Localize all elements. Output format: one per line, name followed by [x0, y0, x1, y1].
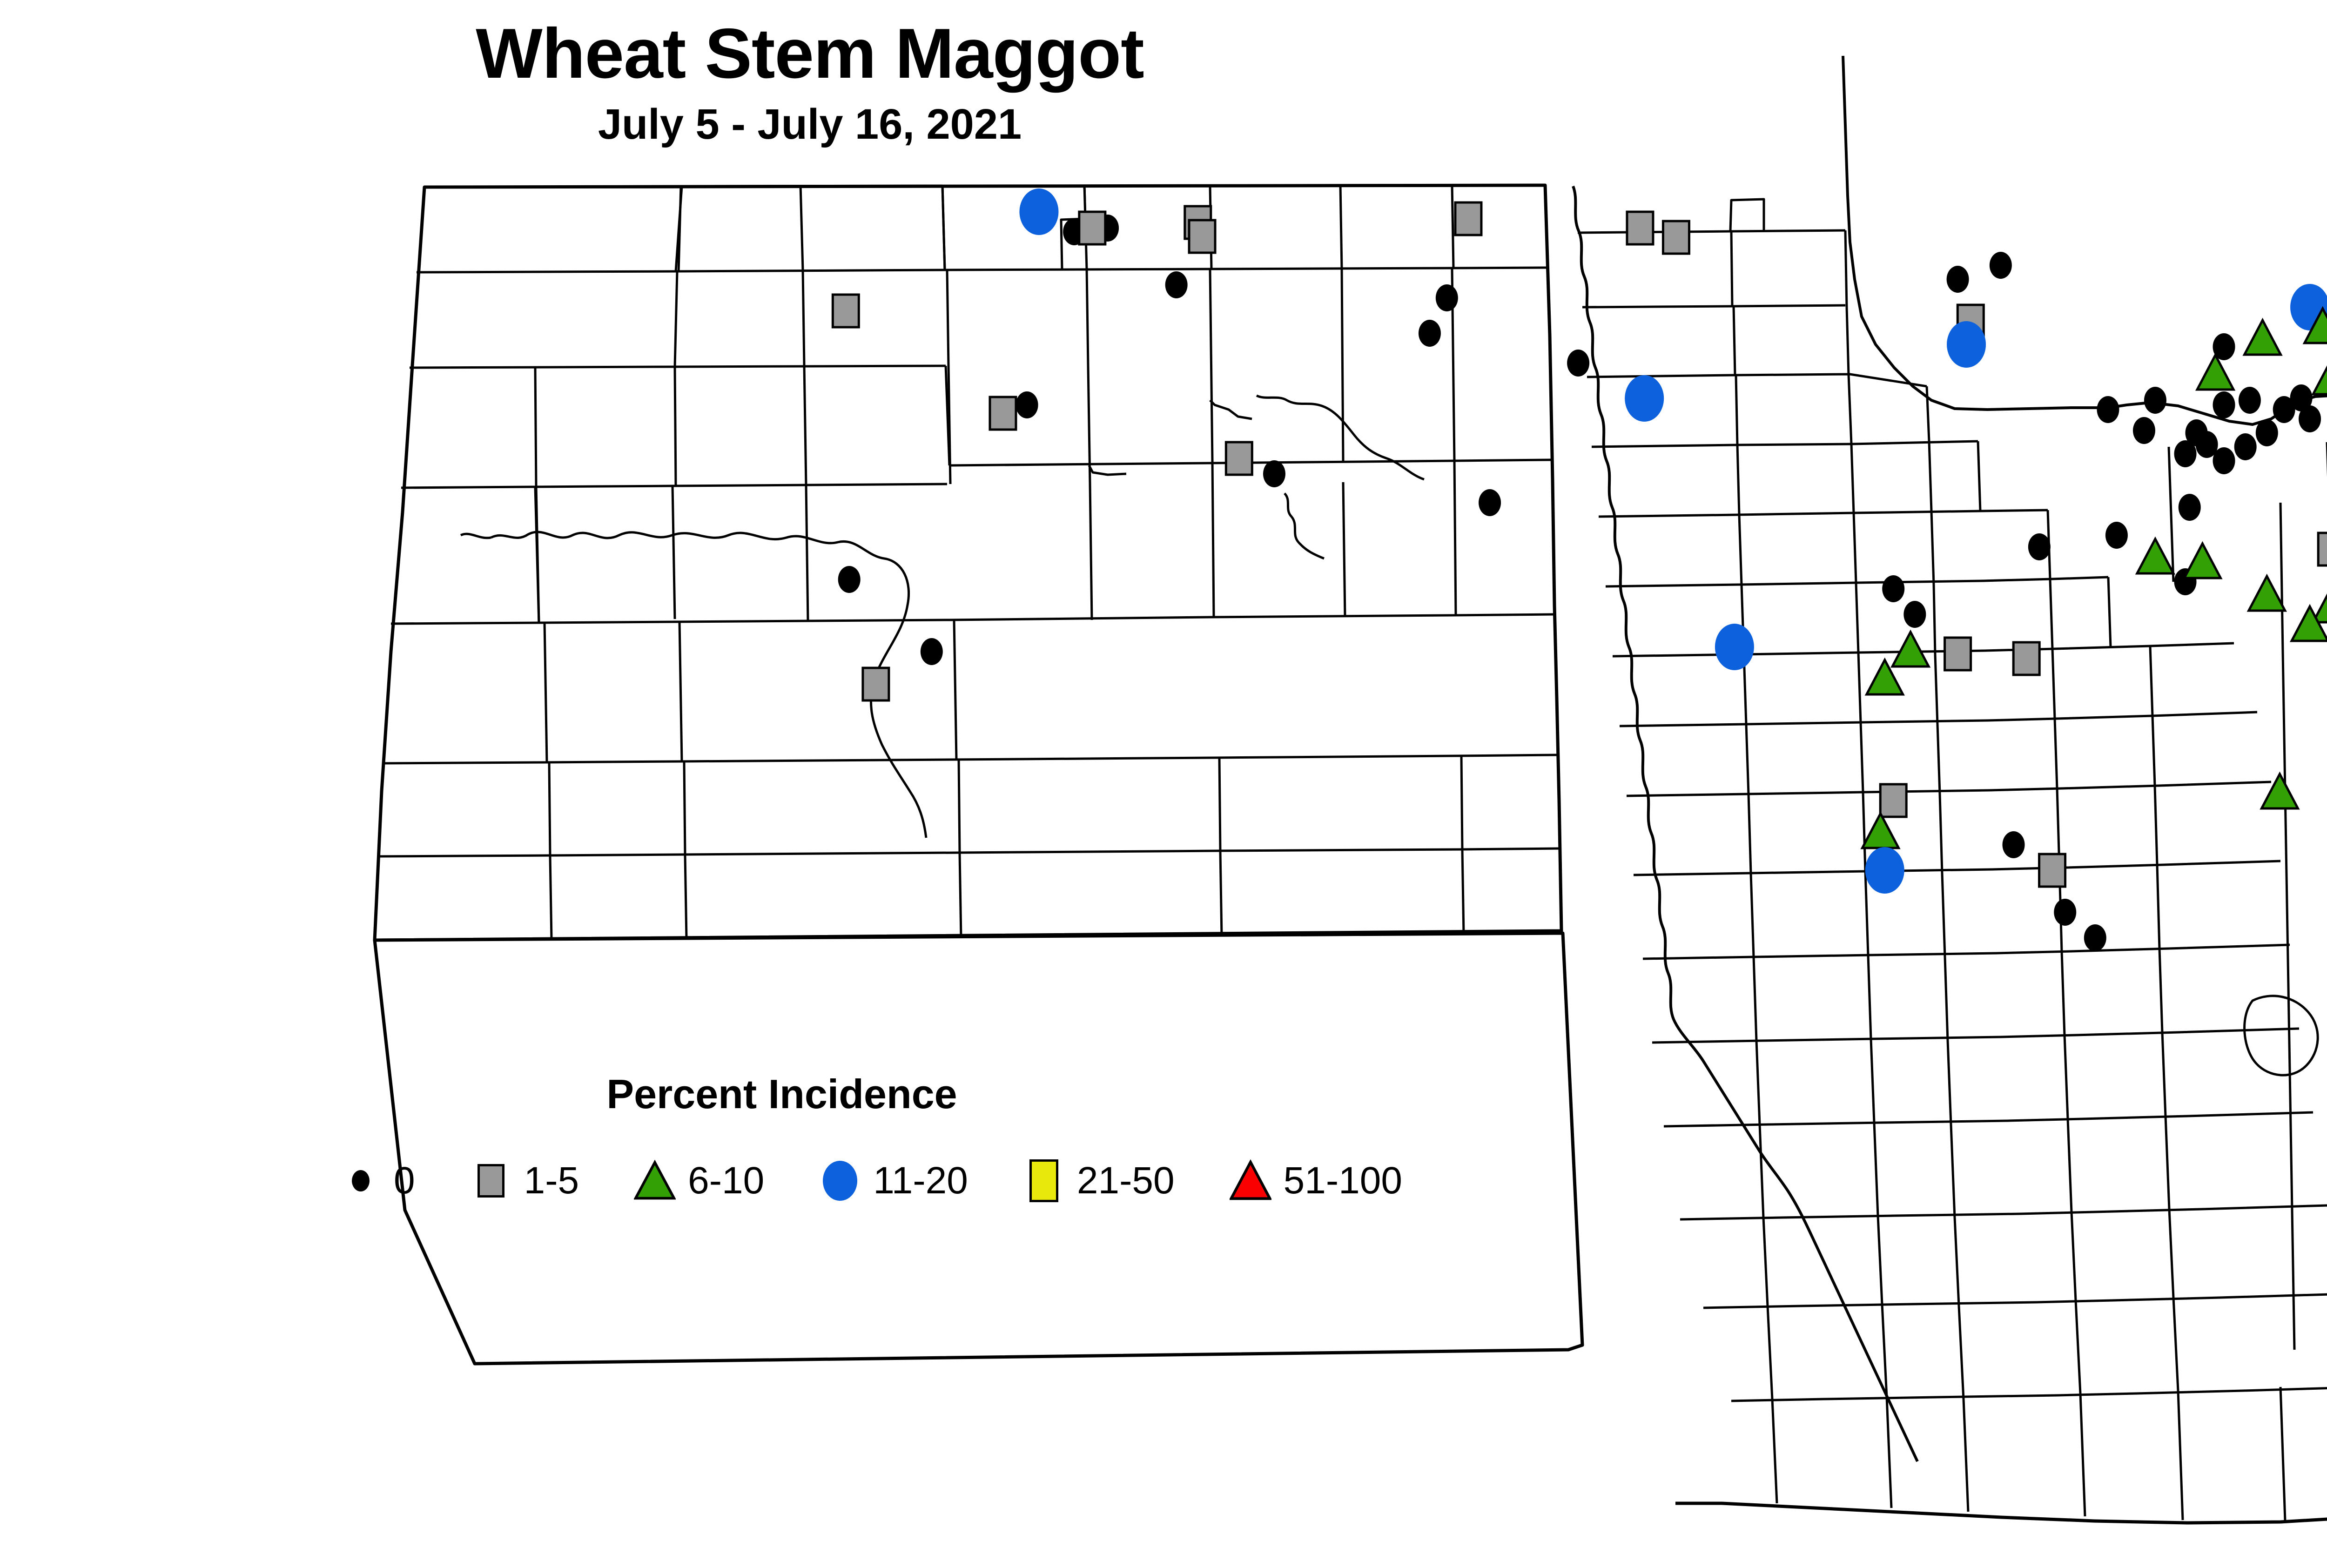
map-marker-1-5: [990, 397, 1016, 430]
map-marker-0: [2256, 419, 2278, 446]
map-marker-0: [2234, 433, 2257, 460]
legend-label-1-5: 1-5: [524, 1159, 579, 1203]
map-marker-1-5: [1189, 220, 1215, 253]
map-marker-0: [2054, 899, 2076, 926]
map-marker-0: [2097, 396, 2119, 423]
map-marker-0: [1436, 284, 1458, 311]
map-marker-1-5: [1079, 212, 1105, 244]
square-yellow-icon: [1023, 1160, 1065, 1202]
legend-label-6-10: 6-10: [688, 1159, 764, 1203]
legend-label-51-100: 51-100: [1284, 1159, 1402, 1203]
map-marker-11-20: [1019, 188, 1058, 235]
legend-item-11-20[interactable]: 11-20: [819, 1159, 968, 1203]
map-marker-1-5: [1455, 202, 1481, 235]
map-marker-1-5: [2039, 854, 2065, 887]
map-marker-0: [1016, 391, 1038, 418]
map-marker-1-5: [2013, 642, 2039, 675]
map-marker-1-5: [1945, 638, 1971, 670]
legend-title: Percent Incidence: [247, 1070, 1317, 1118]
legend-item-0[interactable]: 0: [340, 1159, 415, 1203]
map-marker-0: [2213, 447, 2235, 474]
legend-label-21-50: 21-50: [1077, 1159, 1175, 1203]
map-marker-0: [2028, 533, 2051, 560]
map-marker-1-5: [1627, 212, 1653, 244]
map-marker-0: [1567, 350, 1589, 377]
map-marker-0: [2213, 391, 2235, 418]
map-marker-11-20: [1947, 321, 1986, 368]
map-marker-6-10: [2197, 355, 2233, 390]
map-marker-0: [838, 566, 861, 593]
map-marker-0: [1903, 601, 1926, 628]
map-marker-0: [2273, 396, 2295, 423]
map-marker-0: [2105, 522, 2128, 549]
triangle-red-icon: [1230, 1160, 1271, 1202]
map-marker-0: [2003, 831, 2025, 858]
legend-label-0: 0: [394, 1159, 415, 1203]
legend-item-1-5[interactable]: 1-5: [470, 1159, 579, 1203]
legend-item-21-50[interactable]: 21-50: [1023, 1159, 1175, 1203]
map-marker-0: [1263, 460, 1285, 487]
map-marker-0: [2299, 405, 2321, 432]
map-page: Wheat Stem Maggot July 5 - July 16, 2021: [0, 0, 2327, 1568]
map-marker-1-5: [833, 295, 859, 327]
map-marker-11-20: [1625, 375, 1664, 422]
map-marker-6-10: [2245, 320, 2281, 355]
map-marker-0: [2179, 494, 2201, 521]
square-gray-icon: [470, 1160, 512, 1202]
map-marker-0: [1419, 320, 1441, 347]
map-marker-0: [1479, 489, 1501, 516]
map-marker-6-10: [2313, 360, 2327, 394]
map-marker-0: [2144, 387, 2166, 414]
legend: Percent Incidence 0 1-5: [247, 1070, 1689, 1203]
map-marker-1-5: [1663, 221, 1689, 254]
map-marker-0: [1882, 575, 1904, 602]
map-marker-0: [1165, 271, 1188, 298]
north-dakota-counties: [375, 184, 1561, 940]
incidence-map: [0, 0, 2327, 1568]
circle-blue-icon: [819, 1160, 861, 1202]
triangle-green-icon: [634, 1160, 676, 1202]
map-marker-0: [2084, 924, 2106, 951]
map-marker-0: [1947, 266, 1969, 293]
map-marker-1-5: [2318, 533, 2327, 565]
map-marker-0: [1990, 252, 2012, 279]
map-marker-0: [2133, 417, 2155, 444]
legend-label-11-20: 11-20: [873, 1159, 968, 1203]
map-marker-0: [2239, 387, 2261, 414]
map-marker-0: [2174, 440, 2197, 467]
map-marker-1-5: [863, 668, 889, 700]
map-marker-0: [921, 638, 943, 665]
circle-black-icon: [340, 1160, 382, 1202]
legend-items: 0 1-5 6-10 11-20: [247, 1159, 1689, 1203]
map-marker-11-20: [1715, 624, 1754, 670]
map-marker-11-20: [1865, 847, 1904, 894]
map-marker-1-5: [1226, 442, 1252, 475]
legend-item-6-10[interactable]: 6-10: [634, 1159, 764, 1203]
legend-item-51-100[interactable]: 51-100: [1230, 1159, 1402, 1203]
map-marker-1-5: [1880, 784, 1906, 817]
